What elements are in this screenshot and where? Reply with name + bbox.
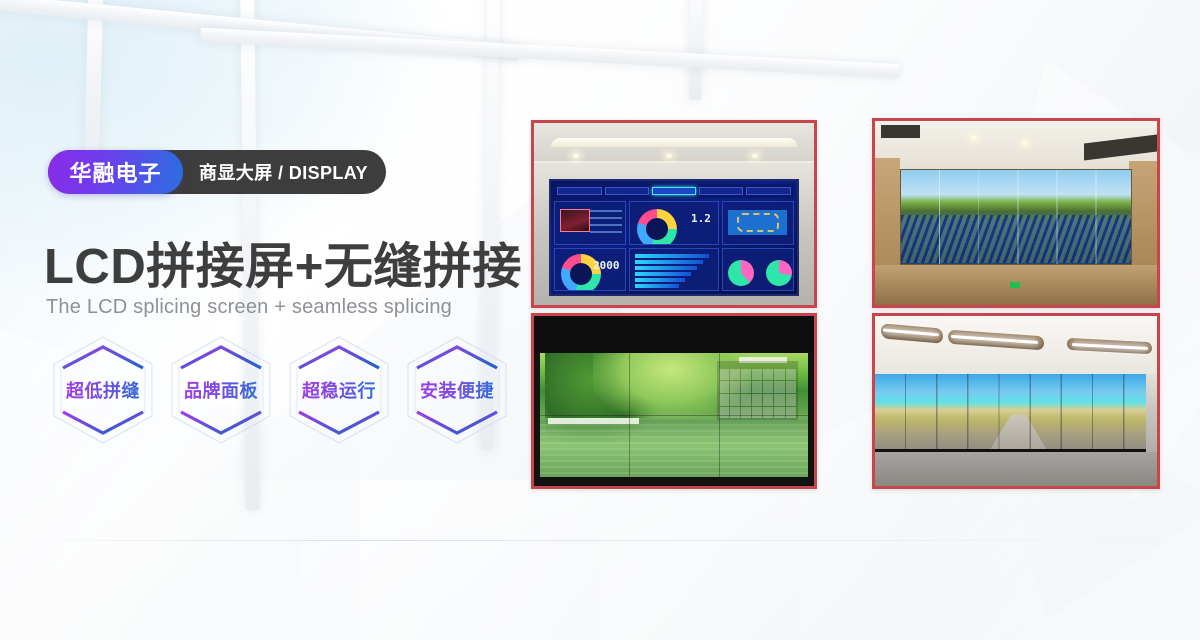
calendar-cell bbox=[763, 407, 773, 419]
ceiling-spotlight bbox=[971, 136, 977, 140]
background-beam-vertical-4 bbox=[689, 0, 703, 100]
dashboard-thumbnail bbox=[560, 209, 591, 232]
dashboard-card-media bbox=[554, 201, 626, 244]
calendar-cell bbox=[719, 407, 729, 419]
calendar-cell bbox=[774, 394, 784, 406]
dashboard-tab bbox=[557, 187, 601, 195]
photo-panel-data-dashboard[interactable]: 1.2 2000 bbox=[531, 120, 817, 308]
calendar-cell bbox=[786, 381, 796, 393]
calendar-cell bbox=[786, 407, 796, 419]
feature-label-2: 超稳运行 bbox=[302, 377, 376, 403]
calendar-cell bbox=[730, 394, 740, 406]
dashboard-card-donut: 1.2 bbox=[629, 201, 719, 244]
bar bbox=[635, 254, 709, 258]
solar-panel-array bbox=[901, 215, 1130, 264]
bar bbox=[635, 284, 678, 288]
brand-badge: 华融电子 商显大屏 / DISPLAY bbox=[48, 150, 386, 194]
pie-chart bbox=[766, 260, 792, 286]
lcd-video-wall bbox=[540, 353, 809, 477]
dashboard-kpi: 2000 bbox=[593, 259, 620, 272]
floor bbox=[875, 452, 1157, 486]
calendar-cell bbox=[774, 369, 784, 381]
feature-label-1: 品牌面板 bbox=[184, 377, 258, 403]
calendar-cell bbox=[763, 394, 773, 406]
bar bbox=[635, 290, 672, 291]
lake-water bbox=[540, 418, 809, 478]
calendar-cell bbox=[786, 369, 796, 381]
dashboard-tab bbox=[746, 187, 790, 195]
calendar-cell bbox=[741, 394, 751, 406]
calendar-cell bbox=[774, 407, 784, 419]
boardwalk bbox=[989, 414, 1049, 452]
feature-label-0: 超低拼缝 bbox=[66, 377, 140, 403]
bar bbox=[635, 260, 703, 264]
calendar-cell bbox=[741, 381, 751, 393]
feature-item-1: 品牌面板 bbox=[166, 334, 276, 446]
calendar-cell bbox=[763, 369, 773, 381]
ceiling-vent bbox=[881, 125, 920, 138]
photo-panel-willow-lake[interactable] bbox=[531, 313, 817, 489]
ceiling-spotlight bbox=[666, 154, 672, 158]
feature-item-0: 超低拼缝 bbox=[48, 334, 158, 446]
calendar-cell bbox=[719, 381, 729, 393]
ceiling-cove-light bbox=[551, 138, 797, 147]
brand-name: 华融电子 bbox=[69, 156, 161, 188]
dashboard-tab bbox=[605, 187, 649, 195]
dashboard-topbar bbox=[554, 184, 793, 198]
lakeside-railing bbox=[548, 418, 639, 424]
dashboard-card-diagram bbox=[722, 201, 794, 244]
dashboard-kpi: 1.2 bbox=[691, 212, 711, 225]
calendar-cell bbox=[752, 381, 762, 393]
product-banner: 华融电子 商显大屏 / DISPLAY LCD拼接屏+无缝拼接 The LCD … bbox=[0, 0, 1200, 640]
calendar-cell bbox=[741, 369, 751, 381]
feature-list: 超低拼缝 品牌面板 bbox=[48, 334, 512, 446]
flow-diagram bbox=[728, 210, 787, 236]
lcd-video-wall bbox=[875, 374, 1146, 452]
dashboard-card-bars bbox=[629, 248, 719, 291]
page-title: LCD拼接屏+无缝拼接 bbox=[44, 227, 522, 298]
calendar-overlay bbox=[717, 361, 798, 421]
dashboard-card-pies bbox=[722, 248, 794, 291]
calendar-cell bbox=[730, 369, 740, 381]
bar bbox=[635, 266, 697, 270]
bar-chart bbox=[635, 254, 712, 291]
calendar-cell bbox=[719, 394, 729, 406]
calendar-cell bbox=[752, 394, 762, 406]
dashboard-text-block bbox=[590, 210, 622, 236]
bar bbox=[635, 278, 684, 282]
calendar-cell bbox=[730, 407, 740, 419]
calendar-cell bbox=[719, 369, 729, 381]
calendar-cell bbox=[741, 407, 751, 419]
badge-category-label: 商显大屏 / DISPLAY bbox=[199, 159, 368, 185]
page-subtitle: The LCD splicing screen + seamless splic… bbox=[46, 296, 452, 319]
dashboard-card-donut-2: 2000 bbox=[554, 248, 626, 291]
exit-sign bbox=[1010, 282, 1020, 288]
background-floor-line bbox=[0, 540, 1200, 541]
ceiling-spotlight bbox=[1022, 141, 1028, 145]
calendar-cell bbox=[763, 381, 773, 393]
beach-boardwalk-video-wall bbox=[875, 316, 1157, 486]
feature-item-3: 安装便捷 bbox=[402, 334, 512, 446]
pie-chart-group bbox=[728, 260, 792, 286]
calendar-cell bbox=[730, 381, 740, 393]
feature-label-3: 安装便捷 bbox=[420, 377, 494, 403]
data-dashboard-video-wall: 1.2 2000 bbox=[534, 123, 814, 305]
willow-lake-video-wall bbox=[534, 316, 814, 486]
dashboard-tab-active bbox=[652, 187, 696, 195]
donut-chart bbox=[637, 209, 677, 245]
pie-chart bbox=[728, 260, 754, 286]
dashboard-screen: 1.2 2000 bbox=[549, 179, 798, 295]
calendar-cell bbox=[786, 394, 796, 406]
dark-ceiling bbox=[534, 316, 814, 353]
photo-panel-beach-boardwalk[interactable] bbox=[872, 313, 1160, 489]
feature-item-2: 超稳运行 bbox=[284, 334, 394, 446]
screen-seam bbox=[540, 415, 809, 416]
dashboard-tab bbox=[699, 187, 743, 195]
calendar-cell bbox=[752, 407, 762, 419]
photo-panel-solar-farm[interactable] bbox=[872, 118, 1160, 308]
calendar-cell bbox=[752, 369, 762, 381]
lcd-video-wall bbox=[900, 169, 1131, 265]
calendar-cell bbox=[774, 381, 784, 393]
brand-badge-pill: 华融电子 bbox=[48, 150, 183, 194]
bar bbox=[635, 272, 691, 276]
solar-farm-video-wall bbox=[875, 121, 1157, 305]
